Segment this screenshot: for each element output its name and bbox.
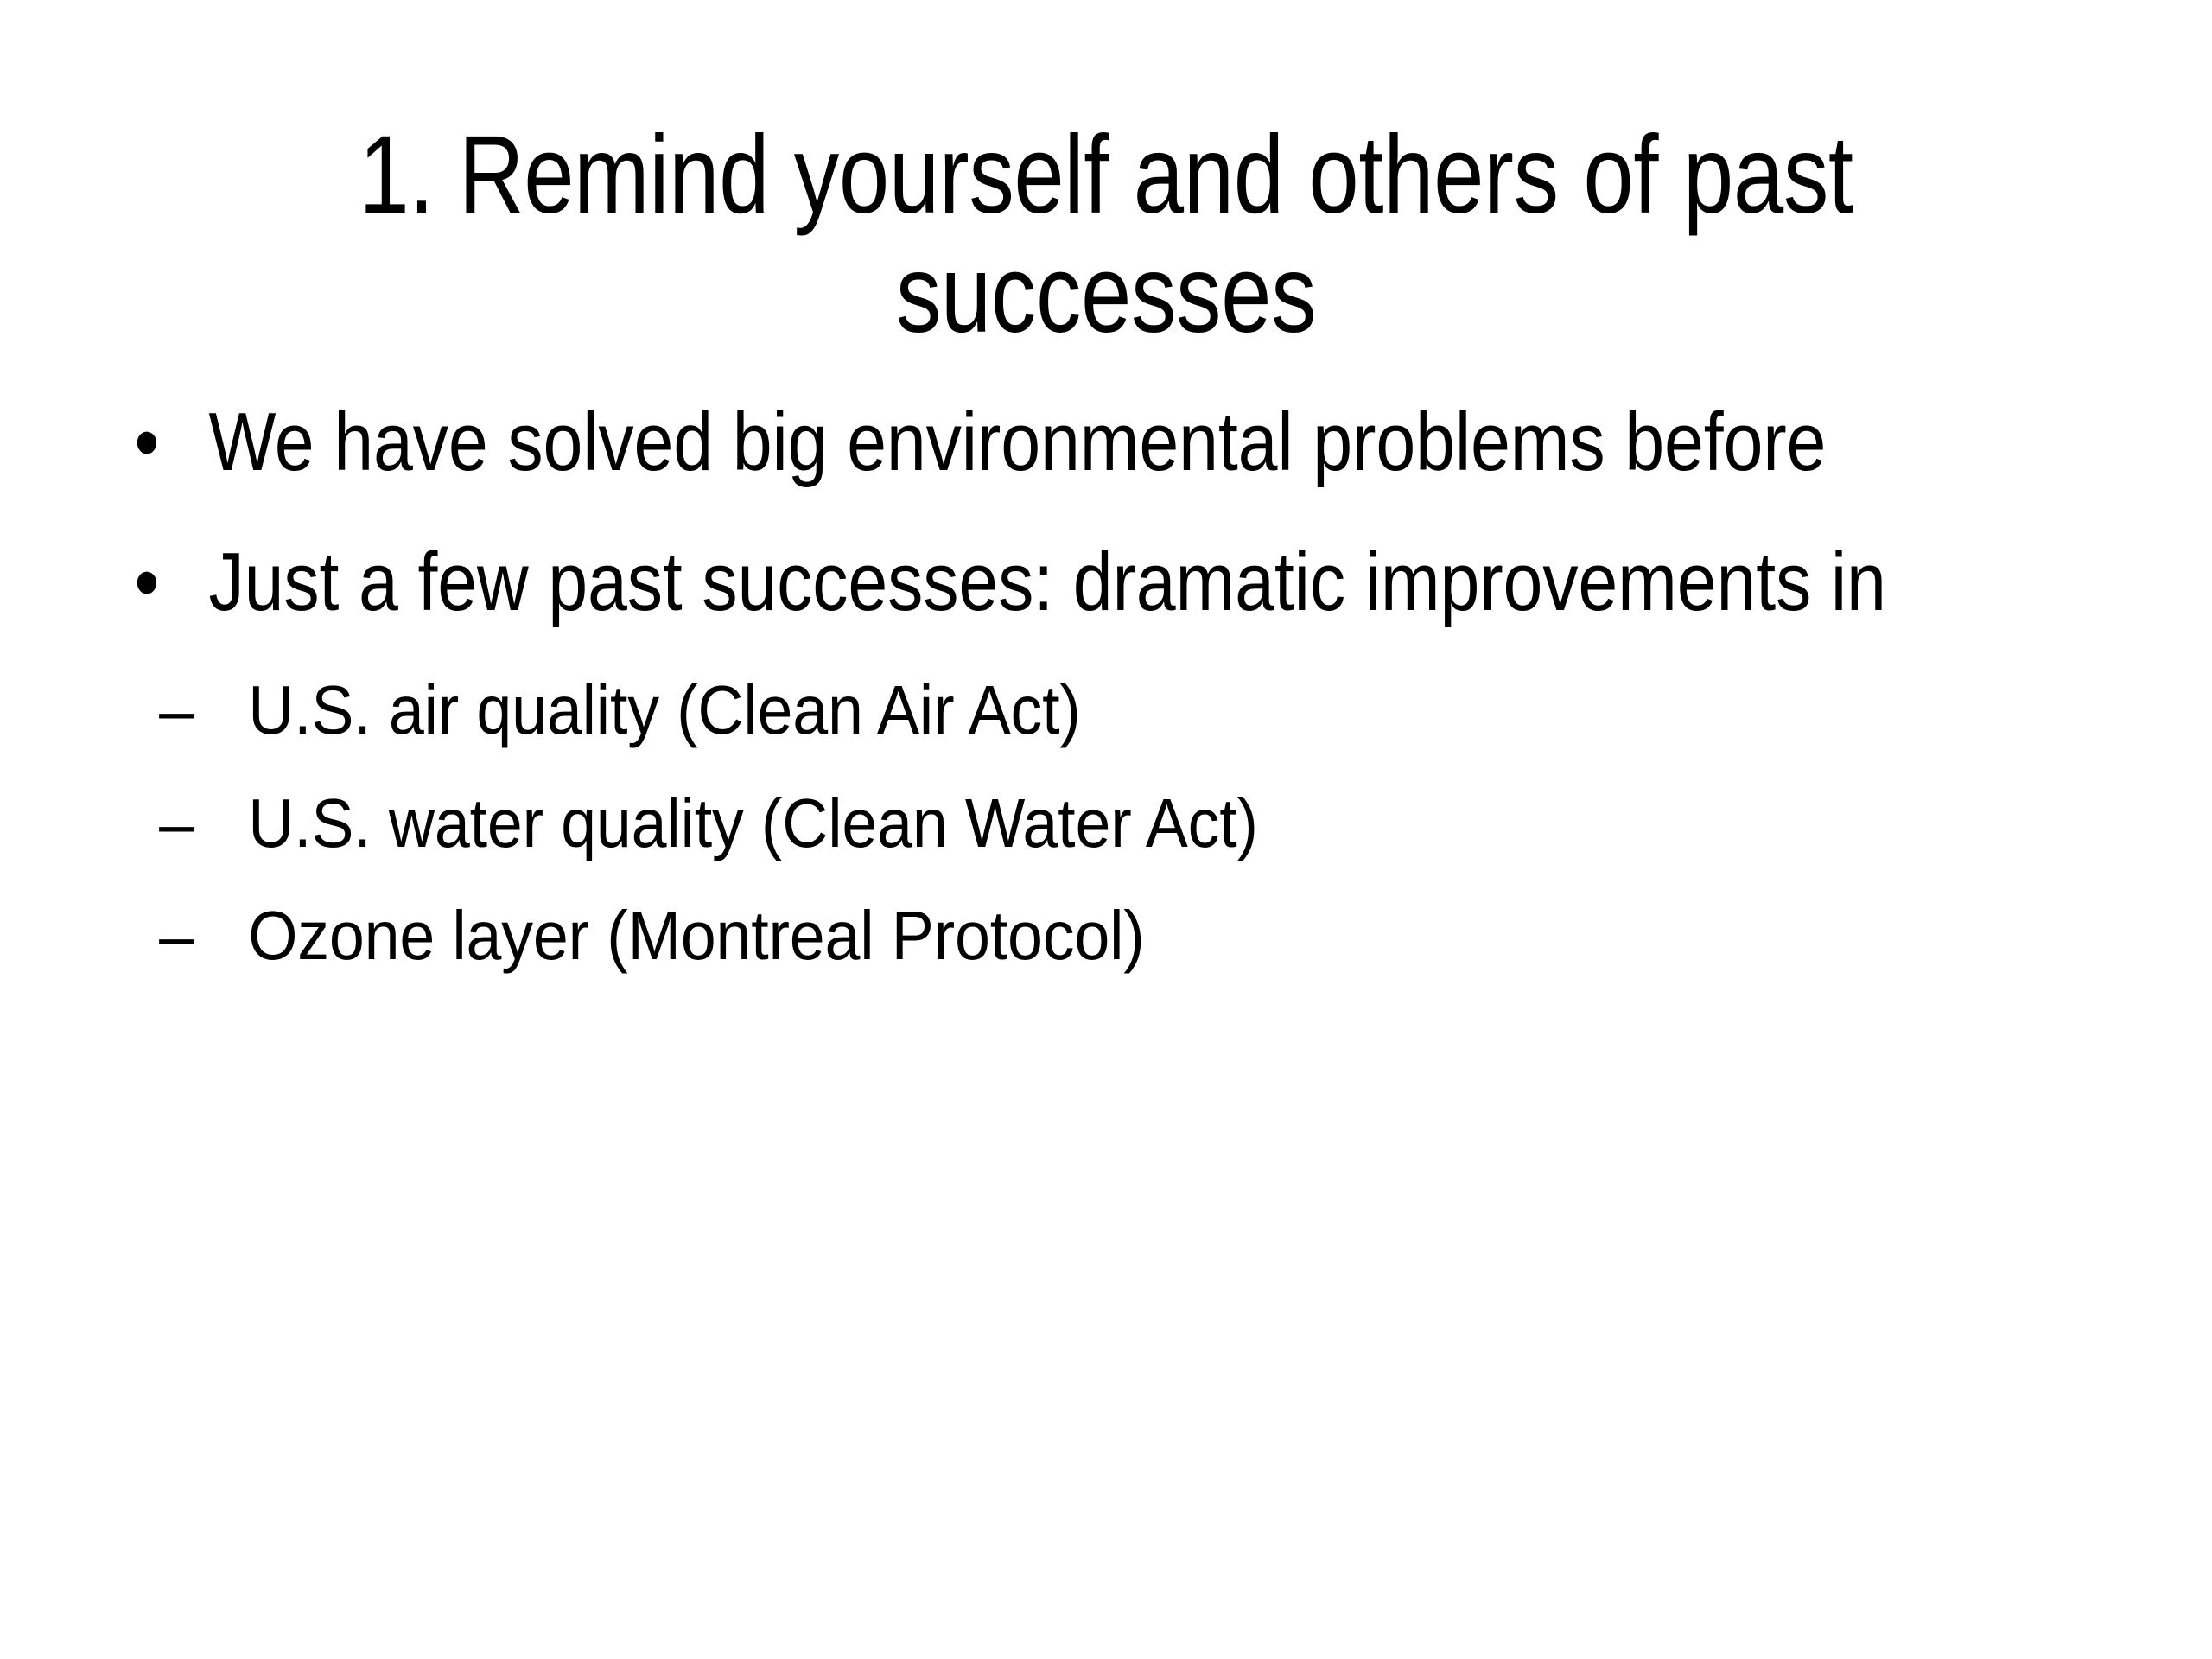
bullet-marker-icon: • — [134, 527, 179, 638]
bullet-text: Just a few past successes: dramatic impr… — [208, 536, 1885, 628]
sub-bullet-text: U.S. air quality (Clean Air Act) — [248, 671, 1081, 748]
bullet-item-level1: • We have solved big environmental probl… — [121, 387, 2171, 498]
slide-title: 1. Remind yourself and others of past su… — [298, 116, 1914, 354]
sub-bullet-item-level2: – Ozone layer (Montreal Protocol) — [121, 892, 2212, 980]
sub-bullet-list: – U.S. air quality (Clean Air Act) – U.S… — [121, 666, 2108, 980]
bullet-marker-icon: • — [134, 387, 179, 498]
sub-bullet-text: Ozone layer (Montreal Protocol) — [248, 897, 1144, 974]
dash-marker-icon: – — [159, 666, 223, 754]
slide-body-content: • We have solved big environmental probl… — [121, 387, 2108, 1005]
dash-marker-icon: – — [159, 892, 223, 980]
sub-bullet-item-level2: – U.S. water quality (Clean Water Act) — [121, 779, 2212, 868]
dash-marker-icon: – — [159, 779, 223, 868]
presentation-slide: 1. Remind yourself and others of past su… — [0, 0, 2212, 1659]
sub-bullet-text: U.S. water quality (Clean Water Act) — [248, 785, 1258, 861]
bullet-item-level1: • Just a few past successes: dramatic im… — [121, 527, 2171, 638]
bullet-text: We have solved big environmental problem… — [208, 396, 1826, 488]
sub-bullet-item-level2: – U.S. air quality (Clean Air Act) — [121, 666, 2212, 754]
